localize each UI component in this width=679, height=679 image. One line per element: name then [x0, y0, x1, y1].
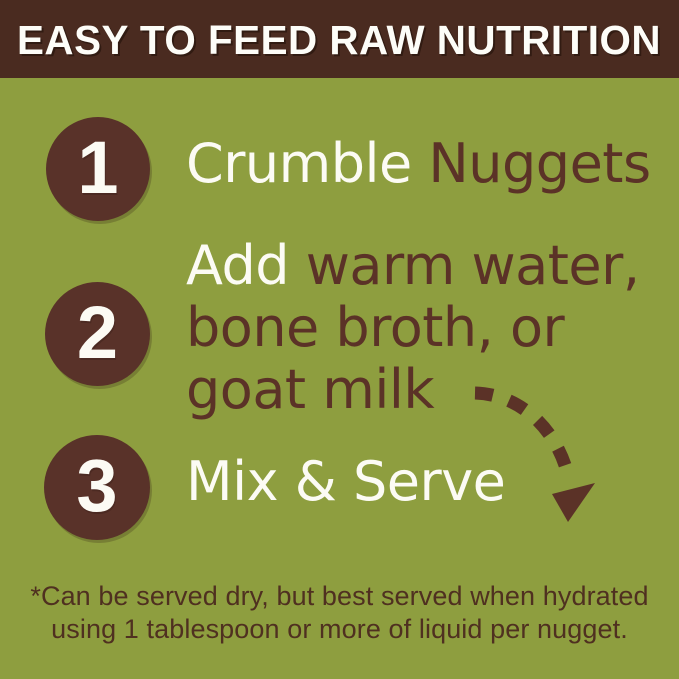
step-2-line-3-rest: goat milk — [186, 358, 434, 421]
step-2-line-1-rest: warm water, — [289, 234, 639, 297]
step-3-line-1-highlight: Mix & Serve — [186, 450, 505, 513]
footnote-line-2: using 1 tablespoon or more of liquid per… — [0, 613, 679, 646]
step-2-badge: 2 — [45, 282, 150, 386]
step-3-line-1: Mix & Serve — [186, 451, 505, 513]
page-title: EASY TO FEED RAW NUTRITION — [17, 17, 657, 63]
steps-list: 1 Crumble Nuggets 2 Add warm water, bone… — [0, 78, 679, 558]
step-2-line-1: Add warm water, — [186, 235, 640, 297]
footnote-line-1: *Can be served dry, but best served when… — [0, 580, 679, 613]
step-2-text: Add warm water, bone broth, or goat milk — [186, 235, 640, 421]
step-1-badge: 1 — [46, 117, 150, 221]
step-1-number: 1 — [46, 117, 150, 221]
step-3-text: Mix & Serve — [186, 451, 505, 513]
step-1-text: Crumble Nuggets — [186, 133, 651, 195]
step-2-line-2-rest: bone broth, or — [186, 296, 564, 359]
step-3-badge: 3 — [44, 435, 150, 540]
footnote: *Can be served dry, but best served when… — [0, 580, 679, 646]
infographic-root: EASY TO FEED RAW NUTRITION 1 Crumble Nug… — [0, 0, 679, 679]
header-banner: EASY TO FEED RAW NUTRITION — [0, 0, 679, 78]
step-2-line-3: goat milk — [186, 359, 640, 421]
step-1-line-1: Crumble Nuggets — [186, 133, 651, 195]
step-3-number: 3 — [44, 435, 150, 540]
step-1-line-1-rest: Nuggets — [412, 132, 651, 195]
step-2-line-1-highlight: Add — [186, 234, 289, 297]
step-2-line-2: bone broth, or — [186, 297, 640, 359]
step-1-line-1-highlight: Crumble — [186, 132, 412, 195]
step-2-number: 2 — [45, 282, 150, 386]
